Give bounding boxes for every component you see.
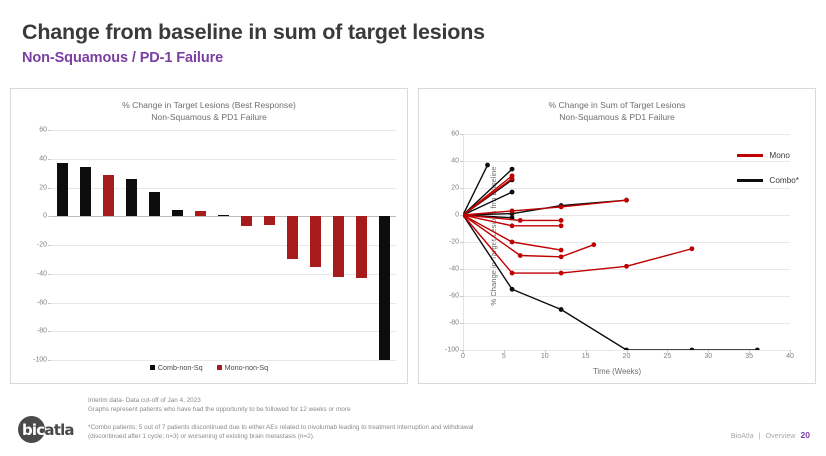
y-axis-label: 40 bbox=[451, 158, 459, 165]
legend-item-mono-line: Mono bbox=[737, 151, 799, 160]
y-axis-tick bbox=[48, 331, 51, 332]
footnote-interim: Interim data- Data cut-off of Jan 4, 202… bbox=[88, 396, 351, 415]
patient-line bbox=[463, 215, 692, 273]
spaghetti-x-axis-title: Time (Weeks) bbox=[419, 367, 815, 376]
y-axis-label: 0 bbox=[43, 213, 47, 220]
gridline bbox=[51, 130, 396, 131]
gridline bbox=[51, 159, 396, 160]
y-axis-label: -80 bbox=[37, 328, 47, 335]
waterfall-bar bbox=[241, 216, 253, 226]
patient-line bbox=[463, 179, 512, 215]
y-axis-label: -20 bbox=[37, 242, 47, 249]
slide-footer: BioAtla | Overview 20 bbox=[731, 430, 810, 440]
spaghetti-legend: Mono Combo* bbox=[737, 151, 799, 201]
footer-divider: | bbox=[759, 431, 761, 440]
data-point bbox=[485, 163, 490, 168]
y-axis-tick bbox=[48, 245, 51, 246]
y-axis-label: 20 bbox=[39, 184, 47, 191]
legend-line-combo-icon bbox=[737, 179, 763, 181]
waterfall-bar bbox=[333, 216, 345, 276]
x-axis-label: 40 bbox=[786, 353, 794, 360]
y-axis-tick bbox=[48, 159, 51, 160]
waterfall-bar bbox=[264, 216, 276, 225]
x-axis-label: 20 bbox=[623, 353, 631, 360]
slide-header: Change from baseline in sum of target le… bbox=[22, 20, 485, 66]
data-point bbox=[690, 348, 695, 350]
logo-text-atla: atla bbox=[44, 421, 73, 439]
waterfall-bar bbox=[310, 216, 322, 266]
data-point bbox=[559, 223, 564, 228]
x-axis-label: 5 bbox=[502, 353, 506, 360]
data-point bbox=[624, 198, 629, 203]
logo-wordmark: bicatla bbox=[22, 421, 74, 439]
bioatla-logo: bicatla bbox=[14, 412, 94, 446]
x-axis-label: 15 bbox=[582, 353, 590, 360]
patient-line bbox=[463, 215, 594, 257]
waterfall-bar bbox=[195, 211, 207, 217]
data-point bbox=[510, 176, 515, 181]
waterfall-bar bbox=[356, 216, 368, 278]
waterfall-plot-area: 6040200-20-40-60-80-100 bbox=[51, 130, 396, 360]
gridline bbox=[51, 360, 396, 361]
y-axis-label: 40 bbox=[39, 155, 47, 162]
patient-line bbox=[463, 215, 757, 350]
data-point bbox=[624, 348, 629, 350]
data-point bbox=[624, 264, 629, 269]
data-point bbox=[559, 307, 564, 312]
spaghetti-chart-title: % Change in Sum of Target Lesions Non-Sq… bbox=[419, 99, 815, 124]
footnote-combo: *Combo patients: 5 out of 7 patients dis… bbox=[88, 423, 508, 442]
legend-item-comb: Comb-non-Sq bbox=[150, 363, 203, 372]
data-point bbox=[690, 246, 695, 251]
data-point bbox=[510, 223, 515, 228]
x-axis-label: 25 bbox=[663, 353, 671, 360]
data-point bbox=[559, 205, 564, 210]
y-axis-label: -40 bbox=[449, 266, 459, 273]
x-axis-label: 30 bbox=[704, 353, 712, 360]
y-axis-tick bbox=[48, 360, 51, 361]
data-point bbox=[518, 218, 523, 223]
waterfall-bar bbox=[149, 192, 161, 216]
gridline bbox=[51, 331, 396, 332]
waterfall-bar bbox=[57, 163, 69, 216]
legend-label-mono-line: Mono bbox=[769, 151, 789, 160]
data-point bbox=[510, 271, 515, 276]
legend-label-combo-line: Combo* bbox=[769, 176, 799, 185]
data-point bbox=[755, 348, 760, 350]
page-title: Change from baseline in sum of target le… bbox=[22, 20, 485, 45]
data-point bbox=[559, 254, 564, 259]
data-point bbox=[559, 218, 564, 223]
waterfall-legend: Comb-non-Sq Mono-non-Sq bbox=[11, 363, 407, 372]
legend-line-mono-icon bbox=[737, 154, 763, 156]
data-point bbox=[559, 248, 564, 253]
waterfall-bar bbox=[218, 215, 230, 216]
data-point bbox=[559, 271, 564, 276]
footnote-line-1: Interim data- Data cut-off of Jan 4, 202… bbox=[88, 396, 351, 405]
y-axis-label: 20 bbox=[451, 185, 459, 192]
legend-swatch-comb-icon bbox=[150, 365, 155, 370]
data-point bbox=[510, 209, 515, 214]
gridline bbox=[51, 303, 396, 304]
x-axis-label: 10 bbox=[541, 353, 549, 360]
legend-item-mono: Mono-non-Sq bbox=[217, 363, 269, 372]
footnote-line-2: Graphs represent patients who have had t… bbox=[88, 405, 351, 414]
data-point bbox=[510, 190, 515, 195]
y-axis-label: 60 bbox=[39, 127, 47, 134]
waterfall-bar bbox=[172, 210, 184, 216]
waterfall-bar bbox=[287, 216, 299, 259]
legend-item-combo-line: Combo* bbox=[737, 176, 799, 185]
y-axis-label: -60 bbox=[449, 293, 459, 300]
data-point bbox=[518, 253, 523, 258]
waterfall-chart-panel: % Change in Target Lesions (Best Respons… bbox=[10, 88, 408, 384]
x-axis-label: 0 bbox=[461, 353, 465, 360]
patient-line bbox=[463, 200, 627, 215]
y-axis-tick bbox=[48, 274, 51, 275]
y-axis-tick bbox=[48, 188, 51, 189]
y-axis-label: -100 bbox=[445, 347, 459, 354]
waterfall-bar bbox=[80, 167, 92, 216]
data-point bbox=[510, 240, 515, 245]
y-axis-label: -20 bbox=[449, 239, 459, 246]
waterfall-bar bbox=[379, 216, 391, 360]
data-point bbox=[510, 167, 515, 172]
patient-line bbox=[463, 169, 512, 215]
footer-section: Overview bbox=[765, 431, 795, 440]
data-point bbox=[591, 242, 596, 247]
page-subtitle: Non-Squamous / PD-1 Failure bbox=[22, 50, 485, 66]
y-axis-label: -80 bbox=[449, 320, 459, 327]
y-axis-label: 0 bbox=[455, 212, 459, 219]
legend-label-mono: Mono-non-Sq bbox=[225, 363, 269, 372]
legend-label-comb: Comb-non-Sq bbox=[158, 363, 203, 372]
y-axis-tick bbox=[48, 130, 51, 131]
waterfall-chart-title: % Change in Target Lesions (Best Respons… bbox=[11, 99, 407, 124]
data-point bbox=[510, 287, 515, 292]
footer-brand: BioAtla bbox=[731, 431, 754, 440]
x-axis-label: 35 bbox=[745, 353, 753, 360]
waterfall-bar bbox=[126, 179, 138, 216]
patient-line bbox=[463, 165, 488, 215]
y-axis-label: 60 bbox=[451, 131, 459, 138]
spaghetti-chart-panel: % Change in Sum of Target Lesions Non-Sq… bbox=[418, 88, 816, 384]
y-axis-label: -40 bbox=[37, 270, 47, 277]
legend-swatch-mono-icon bbox=[217, 365, 222, 370]
slide: Change from baseline in sum of target le… bbox=[0, 0, 826, 456]
waterfall-bar bbox=[103, 175, 115, 217]
y-axis-label: -60 bbox=[37, 299, 47, 306]
y-axis-tick bbox=[48, 303, 51, 304]
page-number: 20 bbox=[800, 430, 810, 440]
logo-text-bic: bic bbox=[22, 421, 44, 439]
